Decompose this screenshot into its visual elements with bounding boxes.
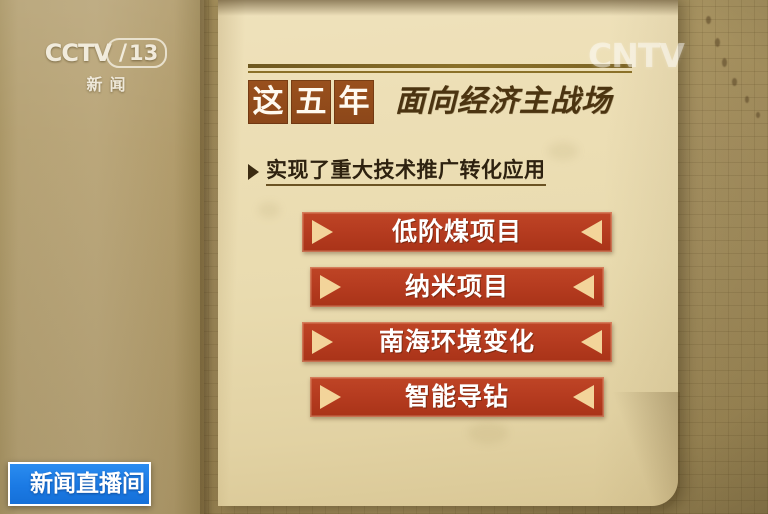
background-speck	[756, 112, 760, 118]
banner-label: 低阶煤项目	[333, 212, 581, 252]
background-speck	[722, 58, 727, 67]
subtitle-row: 实现了重大技术推广转化应用	[248, 157, 546, 186]
lower-third-label: 新闻直播间	[30, 464, 145, 504]
cctv-wordmark: CCTV	[45, 39, 111, 67]
background-speck	[706, 16, 711, 24]
triangle-right-icon	[312, 330, 333, 354]
cctv-logo-row: CCTV / 13	[46, 38, 166, 68]
title-box-char-2: 五	[291, 80, 331, 124]
cctv-channel-number-badge: / 13	[106, 38, 167, 68]
header-divider-rule	[248, 64, 632, 73]
cctv-channel-number: 13	[129, 41, 158, 65]
banner-label: 智能导钻	[341, 377, 573, 417]
cntv-watermark: CNTV	[588, 36, 684, 75]
page-content: 这 五 年 面向经济主战场 实现了重大技术推广转化应用 低阶煤项目 纳米项目	[248, 0, 668, 514]
triangle-right-icon	[312, 220, 333, 244]
triangle-right-icon	[320, 275, 341, 299]
slash-icon: /	[119, 41, 127, 66]
cctv-channel-subtitle: 新闻	[46, 71, 166, 95]
list-item: 智能导钻	[310, 377, 604, 417]
list-item: 低阶煤项目	[302, 212, 612, 252]
title-box-char-1: 这	[248, 80, 288, 124]
list-item: 纳米项目	[310, 267, 604, 307]
cctv-logo: CCTV / 13 新闻	[46, 38, 166, 95]
banner-label: 南海环境变化	[333, 322, 581, 362]
triangle-left-icon	[573, 385, 594, 409]
title-calligraphy: 面向经济主战场	[395, 80, 612, 124]
title-box-char-3: 年	[334, 80, 374, 124]
lower-third-program-badge: 新闻直播间	[8, 462, 151, 506]
background-speck	[715, 38, 720, 47]
banner-label: 纳米项目	[341, 267, 573, 307]
triangle-left-icon	[581, 220, 602, 244]
subtitle-text: 实现了重大技术推广转化应用	[266, 157, 546, 186]
background-speck	[732, 78, 737, 86]
list-item: 南海环境变化	[302, 322, 612, 362]
triangle-left-icon	[573, 275, 594, 299]
triangle-right-icon	[320, 385, 341, 409]
triangle-left-icon	[581, 330, 602, 354]
page-title: 这 五 年 面向经济主战场	[248, 80, 612, 124]
broadcast-screenshot: 这 五 年 面向经济主战场 实现了重大技术推广转化应用 低阶煤项目 纳米项目	[0, 0, 768, 514]
banner-list: 低阶煤项目 纳米项目 南海环境变化 智能导钻	[302, 212, 612, 432]
triangle-right-icon	[248, 164, 259, 180]
background-speck	[745, 96, 749, 103]
